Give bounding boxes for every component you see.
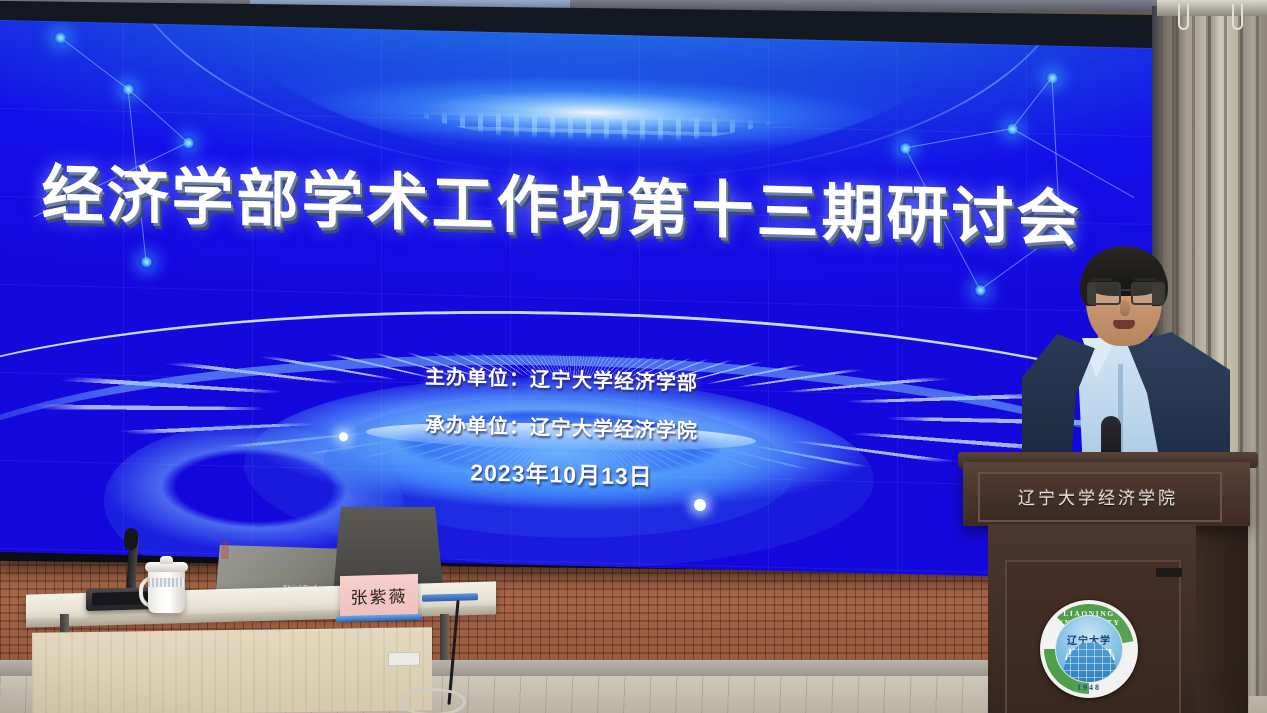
emblem-year: 1948	[1040, 683, 1138, 692]
glasses-icon	[1086, 282, 1163, 302]
eyebrow-right	[1134, 278, 1156, 281]
table-microphone-head	[123, 528, 139, 551]
curtain-hook	[1232, 4, 1243, 30]
speaker-person	[1020, 238, 1230, 478]
laptop-hinge	[221, 541, 229, 559]
desk-asset-sticker	[388, 652, 420, 666]
glasses-lens-right	[1131, 282, 1165, 305]
desk-modesty-panel	[32, 627, 432, 713]
tea-mug	[148, 569, 185, 613]
cable-coil	[400, 688, 466, 713]
mug-pattern-band	[148, 578, 185, 587]
curtain-hook	[1178, 4, 1189, 30]
seminar-photo: 经济学部学术工作坊第十三期研讨会 主办单位：辽宁大学经济学部 承办单位：辽宁大学…	[0, 0, 1267, 713]
podium-name-plate-text: 辽宁大学经济学院	[978, 484, 1218, 509]
podium-label-tag	[1156, 568, 1182, 577]
curtain-rail	[1157, 0, 1267, 16]
glasses-lens-left	[1087, 282, 1121, 305]
emblem-globe-icon	[1062, 642, 1118, 682]
slide-title: 经济学部学术工作坊第十三期研讨会	[0, 142, 1129, 260]
glasses-bridge	[1117, 289, 1131, 291]
eyebrow-left	[1090, 278, 1112, 281]
name-card-text: 张紫薇	[340, 582, 418, 609]
mug-lid-knob	[160, 556, 173, 564]
slide-date-line: 2023年10月13日	[0, 442, 1129, 504]
slide-host-line: 主办单位：辽宁大学经济学部	[0, 350, 1129, 407]
nose	[1120, 300, 1130, 316]
emblem-inner-disc: 辽宁大学	[1055, 615, 1123, 683]
mouth	[1113, 320, 1135, 329]
university-emblem: LIAONING UNIVERSITY SHENYANG CHINA 1948 …	[1040, 600, 1138, 698]
